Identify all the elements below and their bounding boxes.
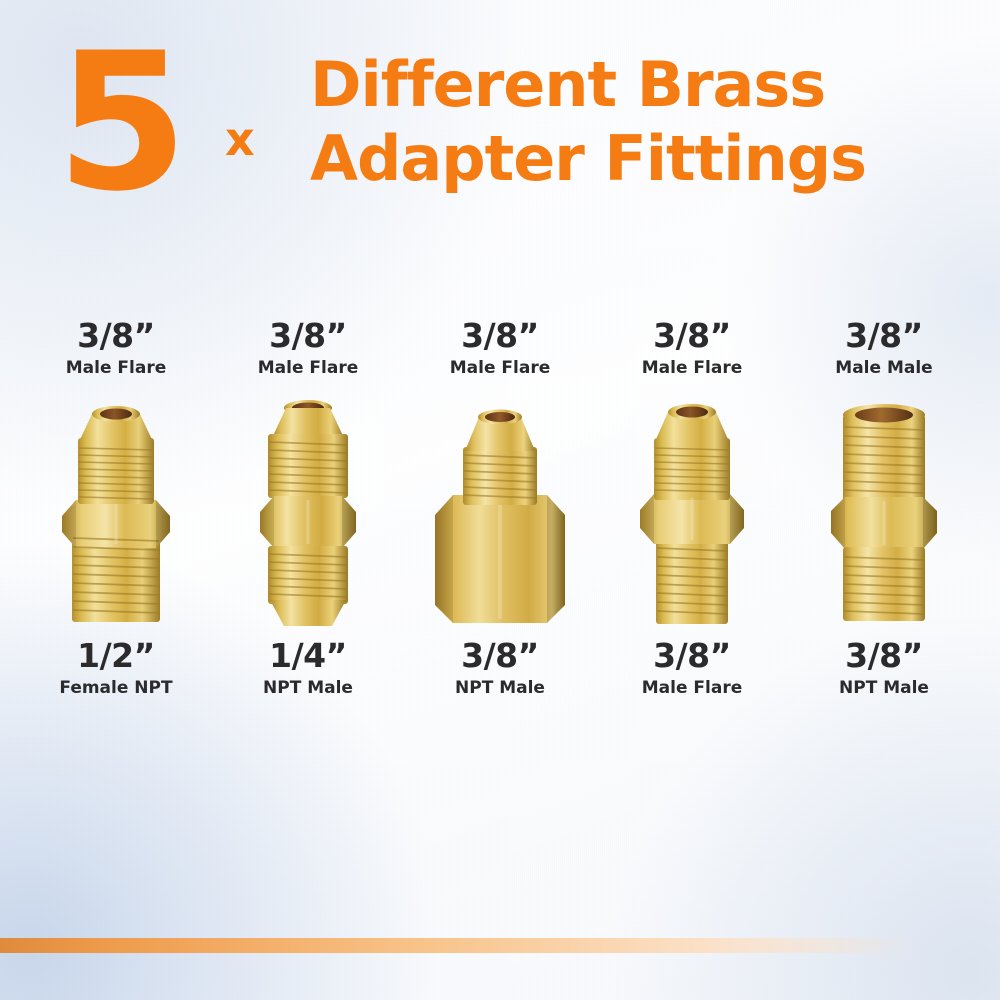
- fitting-5-bottom-size: 3/8”: [790, 638, 978, 674]
- fitting-1-bottom-label: 1/2” Female NPT: [22, 638, 210, 698]
- fitting-2-top-kind: Male Flare: [214, 358, 402, 378]
- brass-hex-nipple-icon: [825, 393, 943, 623]
- fitting-5-top-size: 3/8”: [790, 318, 978, 354]
- fitting-3-bottom-size: 3/8”: [406, 638, 594, 674]
- fitting-2-top-label: 3/8” Male Flare: [214, 318, 402, 378]
- fitting-4-bottom-size: 3/8”: [598, 638, 786, 674]
- fitting-2-bottom-label: 1/4” NPT Male: [214, 638, 402, 698]
- fitting-5-bottom-kind: NPT Male: [790, 678, 978, 698]
- infographic-page: 5 x Different Brass Adapter Fittings 3/8…: [0, 0, 1000, 1000]
- fitting-5-image: [825, 392, 943, 624]
- fitting-1-bottom-size: 1/2”: [22, 638, 210, 674]
- fitting-4-bottom-label: 3/8” Male Flare: [598, 638, 786, 698]
- fitting-column-1: 3/8” Male Flare: [22, 318, 210, 698]
- fitting-5-top-kind: Male Male: [790, 358, 978, 378]
- fitting-4-bottom-kind: Male Flare: [598, 678, 786, 698]
- brass-flare-to-female-hex-icon: [425, 389, 575, 627]
- fitting-1-bottom-kind: Female NPT: [22, 678, 210, 698]
- fitting-3-top-label: 3/8” Male Flare: [406, 318, 594, 378]
- fitting-3-top-kind: Male Flare: [406, 358, 594, 378]
- fitting-2-image: [254, 392, 362, 624]
- fitting-column-3: 3/8” Male Flare: [406, 318, 594, 698]
- fitting-4-top-size: 3/8”: [598, 318, 786, 354]
- fitting-1-top-label: 3/8” Male Flare: [22, 318, 210, 378]
- fitting-2-top-size: 3/8”: [214, 318, 402, 354]
- title-line-2: Adapter Fittings: [310, 122, 970, 196]
- fitting-2-bottom-kind: NPT Male: [214, 678, 402, 698]
- brass-flare-hex-male-npt-icon: [632, 392, 752, 624]
- fitting-column-5: 3/8” Male Male: [790, 318, 978, 698]
- accent-stripe: [0, 938, 1000, 953]
- fitting-column-4: 3/8” Male Flare: [598, 318, 786, 698]
- title-line-1: Different Brass: [310, 48, 970, 122]
- header: 5 x Different Brass Adapter Fittings: [0, 34, 1000, 214]
- fitting-2-bottom-size: 1/4”: [214, 638, 402, 674]
- brass-flare-hex-flare-icon: [254, 386, 362, 630]
- page-title: Different Brass Adapter Fittings: [310, 48, 970, 196]
- fitting-4-top-label: 3/8” Male Flare: [598, 318, 786, 378]
- fitting-1-top-kind: Male Flare: [22, 358, 210, 378]
- fitting-1-top-size: 3/8”: [22, 318, 210, 354]
- fitting-3-bottom-kind: NPT Male: [406, 678, 594, 698]
- fitting-4-top-kind: Male Flare: [598, 358, 786, 378]
- brass-flare-to-male-npt-icon: [56, 392, 176, 624]
- fitting-3-image: [425, 392, 575, 624]
- fittings-grid: 3/8” Male Flare: [0, 318, 1000, 778]
- fitting-column-2: 3/8” Male Flare: [214, 318, 402, 698]
- fitting-4-image: [632, 392, 752, 624]
- quantity-number: 5: [56, 28, 182, 218]
- fitting-5-top-label: 3/8” Male Male: [790, 318, 978, 378]
- fitting-1-image: [56, 392, 176, 624]
- fitting-3-top-size: 3/8”: [406, 318, 594, 354]
- fitting-5-bottom-label: 3/8” NPT Male: [790, 638, 978, 698]
- multiplier-symbol: x: [225, 112, 255, 166]
- fitting-3-bottom-label: 3/8” NPT Male: [406, 638, 594, 698]
